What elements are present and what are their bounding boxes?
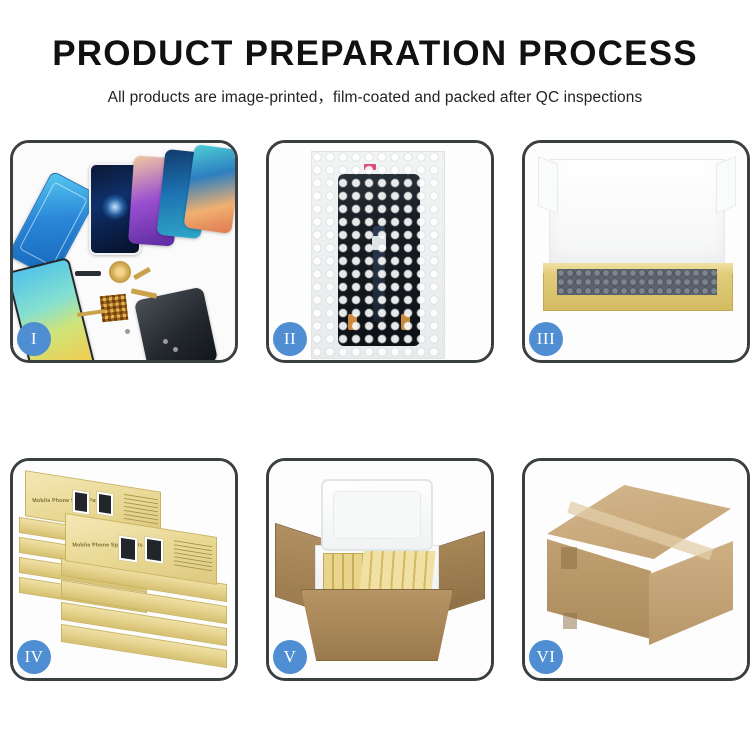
carton-body (301, 589, 453, 661)
screw-part-2 (173, 347, 178, 352)
step-badge-1: I (17, 322, 51, 356)
process-step-5[interactable]: V (266, 458, 494, 681)
earpiece-part (75, 271, 101, 276)
chip-grid-part (100, 294, 129, 323)
carton-tab-2 (563, 613, 577, 629)
process-step-1[interactable]: I (10, 140, 238, 363)
process-step-6[interactable]: VI (522, 458, 750, 681)
step-badge-4: IV (17, 640, 51, 674)
retail-box-window-back-2 (96, 490, 114, 517)
page-header: PRODUCT PREPARATION PROCESS All products… (0, 0, 750, 107)
screw-part-1 (163, 339, 168, 344)
foam-box-lid (321, 479, 433, 551)
retail-box-specs-front (174, 537, 212, 571)
process-step-2[interactable]: II (266, 140, 494, 363)
retail-box-window-front-2 (144, 535, 164, 564)
retail-box-stack: Mobile Phone Spare Parts Mobile Phone Sp… (19, 475, 231, 667)
carton-tab-1 (561, 547, 577, 569)
page-subtitle: All products are image-printed，film-coat… (0, 85, 750, 107)
carton-side-face (649, 541, 733, 645)
step-badge-6: VI (529, 640, 563, 674)
process-step-4[interactable]: Mobile Phone Spare Parts Mobile Phone Sp… (10, 458, 238, 681)
step-badge-5: V (273, 640, 307, 674)
retail-box-label-back: Mobile Phone Spare Parts (32, 498, 103, 504)
flex-cable-part-1 (131, 288, 157, 298)
step-badge-2: II (273, 322, 307, 356)
screw-part-3 (125, 329, 130, 334)
flex-cable-part-3 (133, 267, 151, 280)
process-step-grid: I II III (10, 140, 738, 680)
bubble-texture (312, 152, 444, 358)
speaker-coil-part (109, 261, 131, 283)
inner-box-lid (549, 159, 725, 271)
bubble-wrapped-contents (557, 269, 717, 295)
step-badge-3: III (529, 322, 563, 356)
bubble-wrap-bag (311, 151, 445, 359)
process-step-3[interactable]: III (522, 140, 750, 363)
retail-box-specs-back (124, 493, 158, 524)
page-title: PRODUCT PREPARATION PROCESS (0, 36, 750, 73)
retail-box-window-back-1 (72, 489, 90, 516)
retail-box-window-front-1 (118, 534, 138, 563)
